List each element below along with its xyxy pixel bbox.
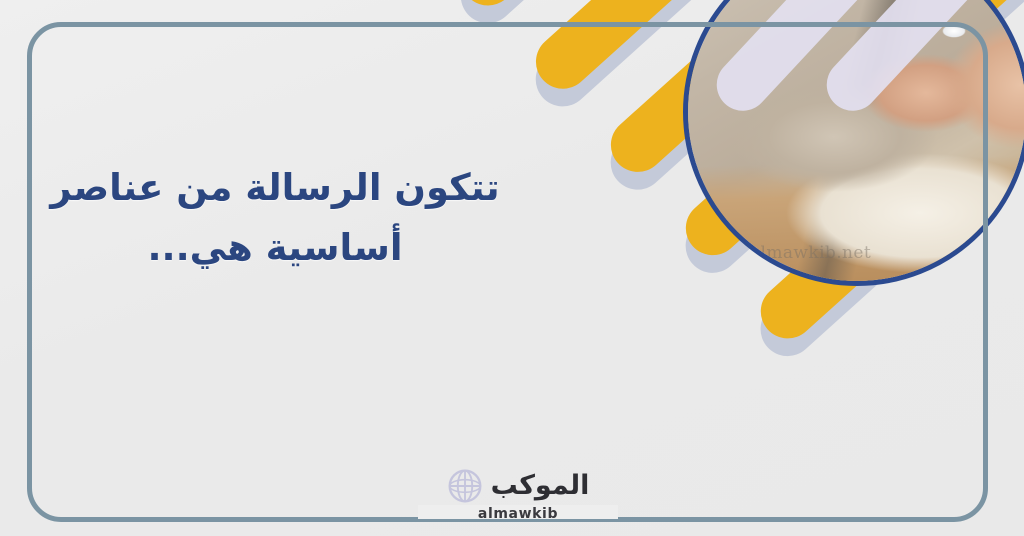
logo-row: الموكب — [447, 468, 590, 504]
photo-circle: almawkib.net — [683, 0, 1024, 286]
photo-watermark: almawkib.net — [750, 243, 871, 263]
banner-canvas: almawkib.net تتكون الرسالة من عناصر أساس… — [0, 0, 1024, 536]
page-title: تتكون الرسالة من عناصر أساسية هي... — [40, 158, 510, 278]
brand-logo[interactable]: الموكب almawkib — [418, 463, 618, 525]
logo-latin-text: almawkib — [478, 507, 558, 521]
logo-arabic-text: الموكب — [491, 472, 590, 499]
globe-icon — [447, 468, 483, 504]
photo-image — [688, 0, 1024, 281]
